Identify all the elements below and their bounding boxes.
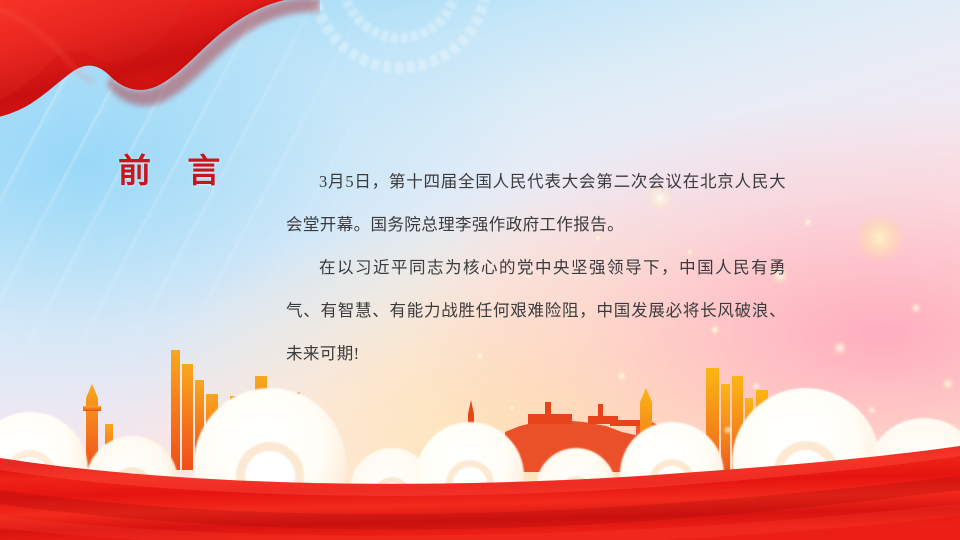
page-title: 前 言 [118, 156, 234, 189]
body-text: 3月5日，第十四届全国人民代表大会第二次会议在北京人民大会堂开幕。国务院总理李强… [286, 160, 786, 375]
paragraph-2: 在以习近平同志为核心的党中央坚强领导下，中国人民有勇气、有智慧、有能力战胜任何艰… [286, 246, 786, 375]
slide-content: 前 言 3月5日，第十四届全国人民代表大会第二次会议在北京人民大会堂开幕。国务院… [0, 0, 960, 540]
paragraph-1: 3月5日，第十四届全国人民代表大会第二次会议在北京人民大会堂开幕。国务院总理李强… [286, 160, 786, 246]
presentation-slide: 前 言 3月5日，第十四届全国人民代表大会第二次会议在北京人民大会堂开幕。国务院… [0, 0, 960, 540]
